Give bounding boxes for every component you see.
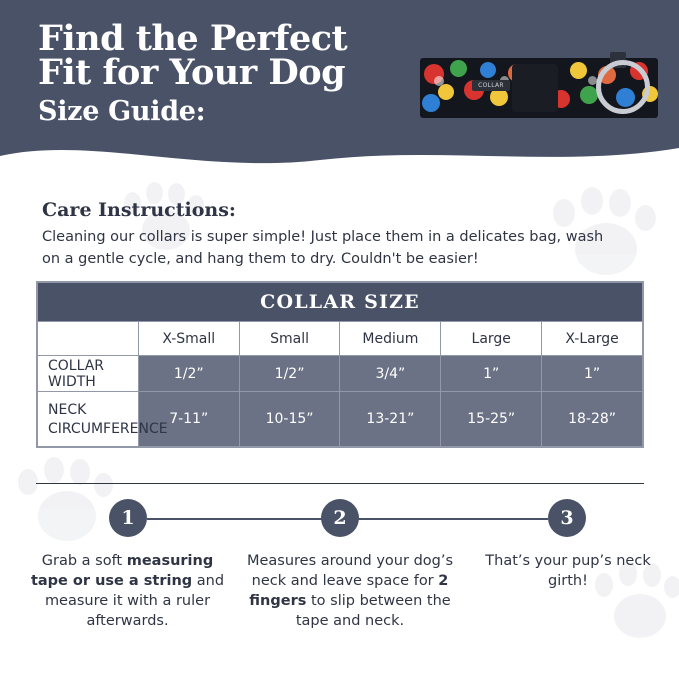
size-header-large: Large xyxy=(441,322,542,356)
collar-width-small: 1/2” xyxy=(239,356,340,392)
table-size-header-row: X-Small Small Medium Large X-Large xyxy=(38,322,643,356)
size-header-medium: Medium xyxy=(340,322,441,356)
collar-width-x-large: 1” xyxy=(542,356,643,392)
d-ring-icon xyxy=(596,60,650,114)
care-instructions-text: Cleaning our collars is super simple! Ju… xyxy=(42,226,612,270)
table-row-collar-width: COLLAR WIDTH 1/2” 1/2” 3/4” 1” 1” xyxy=(38,356,643,392)
row-label-neck-circumference: NECK CIRCUMFERENCE xyxy=(38,392,139,447)
care-instructions-title: Care Instructions: xyxy=(42,199,236,221)
collar-width-large: 1” xyxy=(441,356,542,392)
step-connector-2-3 xyxy=(358,518,548,520)
corner-cell xyxy=(38,322,139,356)
row-label-neck-line2: CIRCUMFERENCE xyxy=(48,420,138,439)
collar-brand-tag: COLLAR xyxy=(472,80,510,91)
header-wave-divider xyxy=(0,134,679,172)
header-title-block: Find the Perfect Fit for Your Dog Size G… xyxy=(38,22,408,127)
neck-circumference-medium: 13-21” xyxy=(340,392,441,447)
collar-buckle xyxy=(512,64,558,112)
row-label-neck-line1: NECK xyxy=(48,401,138,420)
neck-circumference-small: 10-15” xyxy=(239,392,340,447)
step-text-3: That’s your pup’s neck girth! xyxy=(478,551,658,591)
title-line-2: Fit for Your Dog xyxy=(38,56,408,90)
size-table: COLLAR SIZE X-Small Small Medium Large X… xyxy=(36,281,644,448)
step-number-1: 1 xyxy=(109,499,147,537)
collar-product-photo: COLLAR xyxy=(420,20,658,148)
step-connector-1-2 xyxy=(147,518,323,520)
step-number-2: 2 xyxy=(321,499,359,537)
title-line-1: Find the Perfect xyxy=(38,22,408,56)
table-header-row: COLLAR SIZE xyxy=(38,283,643,322)
step-text-1: Grab a soft measuring tape or use a stri… xyxy=(30,551,225,631)
neck-circumference-large: 15-25” xyxy=(441,392,542,447)
neck-circumference-x-large: 18-28” xyxy=(542,392,643,447)
step-text-2: Measures around your dog’s neck and leav… xyxy=(236,551,464,631)
table-title-cell: COLLAR SIZE xyxy=(38,283,643,322)
step-number-3: 3 xyxy=(548,499,586,537)
steps-divider xyxy=(36,483,644,484)
collar-width-x-small: 1/2” xyxy=(138,356,239,392)
size-header-x-large: X-Large xyxy=(542,322,643,356)
paw-print-decor-2 xyxy=(12,455,122,565)
row-label-collar-width: COLLAR WIDTH xyxy=(38,356,139,392)
collar-width-medium: 3/4” xyxy=(340,356,441,392)
neck-circumference-x-small: 7-11” xyxy=(138,392,239,447)
header-subtitle: Size Guide: xyxy=(38,97,408,127)
size-header-x-small: X-Small xyxy=(138,322,239,356)
table-row-neck-circumference: NECK CIRCUMFERENCE 7-11” 10-15” 13-21” 1… xyxy=(38,392,643,447)
header-banner: Find the Perfect Fit for Your Dog Size G… xyxy=(0,0,679,172)
size-header-small: Small xyxy=(239,322,340,356)
